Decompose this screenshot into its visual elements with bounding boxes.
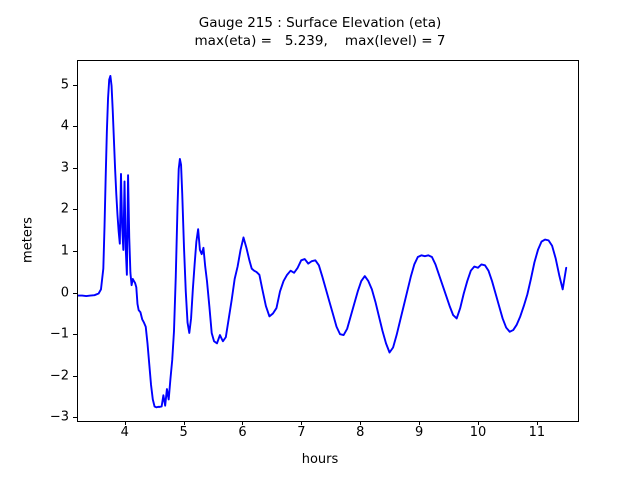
y-tick-mark	[73, 376, 77, 377]
y-tick-label: −3	[50, 410, 69, 425]
y-tick-mark	[73, 293, 77, 294]
y-tick-label: −1	[50, 327, 69, 342]
eta-series-line	[78, 61, 578, 421]
eta-polyline	[78, 76, 566, 407]
y-axis-label: meters	[21, 217, 36, 263]
x-tick-label: 7	[297, 425, 305, 440]
y-tick-mark	[73, 126, 77, 127]
y-tick-mark	[73, 85, 77, 86]
x-axis-label: hours	[0, 452, 640, 467]
y-tick-label: 0	[61, 285, 69, 300]
y-tick-mark	[73, 168, 77, 169]
x-tick-label: 11	[529, 425, 546, 440]
y-tick-mark	[73, 251, 77, 252]
y-tick-label: 2	[61, 202, 69, 217]
x-tick-label: 9	[415, 425, 423, 440]
x-tick-label: 4	[121, 425, 129, 440]
y-tick-mark	[73, 334, 77, 335]
plot-area	[77, 60, 579, 422]
y-tick-label: 3	[61, 160, 69, 175]
x-tick-label: 8	[356, 425, 364, 440]
y-tick-label: 4	[61, 119, 69, 134]
y-tick-label: 1	[61, 244, 69, 259]
chart-title-line2: max(eta) = 5.239, max(level) = 7	[0, 32, 640, 50]
x-tick-label: 6	[238, 425, 246, 440]
x-tick-label: 10	[470, 425, 487, 440]
matplotlib-figure: Gauge 215 : Surface Elevation (eta) max(…	[0, 0, 640, 480]
x-tick-label: 5	[179, 425, 187, 440]
y-tick-mark	[73, 417, 77, 418]
chart-title-line1: Gauge 215 : Surface Elevation (eta)	[0, 14, 640, 32]
y-tick-label: −2	[50, 368, 69, 383]
y-tick-label: 5	[61, 77, 69, 92]
chart-title: Gauge 215 : Surface Elevation (eta) max(…	[0, 14, 640, 50]
y-tick-mark	[73, 209, 77, 210]
